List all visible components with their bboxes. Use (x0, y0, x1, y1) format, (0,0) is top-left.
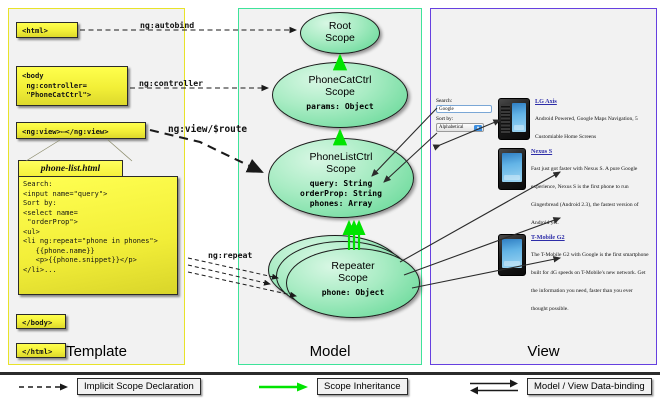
edge-ngview-route (150, 130, 262, 172)
legend-label-implicit: Implicit Scope Declaration (77, 378, 201, 395)
edge-bind-orderprop (384, 133, 437, 182)
angularjs-architecture-diagram: Template Model View (0, 0, 660, 405)
legend-divider (0, 372, 660, 375)
green-arrow-icon (258, 381, 310, 393)
legend: Implicit Scope Declaration Scope Inherit… (0, 378, 660, 405)
legend-item-inheritance: Scope Inheritance (258, 378, 408, 395)
edge-ngrepeat-1 (188, 258, 278, 278)
double-arrow-icon (468, 379, 520, 395)
dashed-arrow-icon (18, 381, 70, 393)
edge-label-autobind: ng:autobind (140, 20, 194, 30)
edge-label-ngview-route: ng:view/$route (168, 124, 247, 135)
legend-item-databinding: Model / View Data-binding (468, 378, 652, 395)
edge-ngrepeat-3 (188, 272, 296, 296)
edge-label-ngrepeat: ng:repeat (208, 250, 252, 260)
legend-label-inheritance: Scope Inheritance (317, 378, 408, 395)
edge-label-controller: ng:controller (139, 78, 203, 88)
leader-ngview-left (26, 140, 60, 161)
edge-bind-phone-4 (412, 258, 560, 288)
connector-edge-layer (0, 0, 660, 405)
leader-ngview-right (108, 140, 132, 161)
edge-bind-phone-2 (400, 172, 560, 262)
legend-label-databinding: Model / View Data-binding (527, 378, 652, 395)
legend-item-implicit: Implicit Scope Declaration (18, 378, 201, 395)
edge-bind-phone-1 (440, 120, 500, 145)
